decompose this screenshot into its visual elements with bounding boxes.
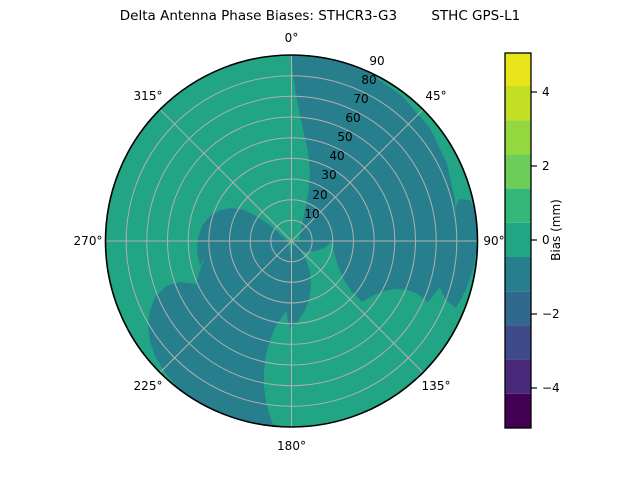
azimuth-tick-45: 45°	[425, 89, 446, 103]
colorbar-tick-label-2: 2	[542, 159, 550, 173]
radial-tick-90: 90	[369, 54, 384, 68]
colorbar-band-1	[505, 360, 531, 394]
radial-tick-80: 80	[361, 73, 376, 87]
colorbar-tick-label-4: 4	[542, 85, 550, 99]
colorbar-band-0	[505, 394, 531, 428]
colorbar-band-7	[505, 154, 531, 188]
colorbar-band-9	[505, 86, 531, 120]
angular-gridlines	[106, 55, 478, 427]
colorbar-bands	[505, 53, 531, 428]
azimuth-tick-0: 0°	[285, 31, 299, 45]
figure-canvas: Delta Antenna Phase Biases: STHCR3-G3 ST…	[0, 0, 640, 480]
colorbar: 4 2 0 −2 −4 Bias (mm)	[498, 40, 640, 450]
polar-plot: 0° 45° 90° 135° 180° 225° 270° 315° 10 2…	[0, 0, 500, 480]
azimuth-tick-270: 270°	[74, 234, 103, 248]
azimuth-tick-315: 315°	[134, 89, 163, 103]
colorbar-band-5	[505, 223, 531, 257]
radial-tick-40: 40	[329, 149, 344, 163]
radial-tick-20: 20	[312, 188, 327, 202]
colorbar-band-4	[505, 257, 531, 291]
radial-tick-70: 70	[353, 92, 368, 106]
azimuth-tick-180: 180°	[277, 439, 306, 453]
colorbar-band-10	[505, 53, 531, 86]
colorbar-axis-label: Bias (mm)	[549, 199, 563, 261]
radial-tick-60: 60	[345, 111, 360, 125]
azimuth-tick-225: 225°	[134, 379, 163, 393]
colorbar-band-8	[505, 120, 531, 154]
radial-tick-30: 30	[321, 168, 336, 182]
colorbar-tick-label-neg4: −4	[542, 381, 560, 395]
colorbar-band-2	[505, 325, 531, 359]
colorbar-ticks	[531, 92, 537, 388]
colorbar-band-3	[505, 291, 531, 325]
colorbar-tick-label-neg2: −2	[542, 307, 560, 321]
colorbar-band-6	[505, 189, 531, 223]
radial-tick-50: 50	[337, 130, 352, 144]
azimuth-tick-135: 135°	[422, 379, 451, 393]
radial-tick-10: 10	[304, 207, 319, 221]
colorbar-svg	[498, 40, 640, 450]
